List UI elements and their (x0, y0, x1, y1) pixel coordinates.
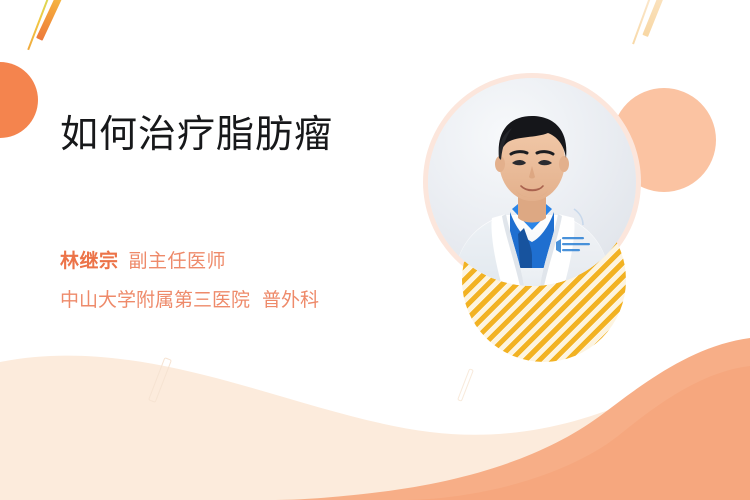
bottom-dark-wave-decoration (0, 320, 750, 500)
bottom-light-wave-decoration (0, 320, 750, 500)
doctor-name: 林继宗 (60, 251, 119, 272)
faint-diagonal-tick-decoration (457, 368, 474, 402)
doctor-department: 普外科 (262, 290, 319, 311)
page-title: 如何治疗脂肪瘤 (60, 112, 333, 160)
top-right-thick-stroke-decoration (642, 0, 669, 37)
top-left-thin-stroke-decoration (27, 0, 53, 50)
doctor-credit-line-secondary: 中山大学附属第三医院普外科 (60, 288, 319, 315)
doctor-video-cover-card: 如何治疗脂肪瘤 林继宗副主任医师 中山大学附属第三医院普外科 (0, 0, 750, 500)
doctor-hospital: 中山大学附属第三医院 (60, 290, 250, 311)
top-right-thin-stroke-decoration (632, 0, 656, 44)
top-left-thick-stroke-decoration (36, 0, 67, 41)
doctor-credit-line-primary: 林继宗副主任医师 (60, 249, 226, 276)
faint-diagonal-tick-decoration (148, 357, 172, 403)
orange-circle-decoration (0, 62, 38, 138)
doctor-portrait-photo (428, 78, 636, 286)
doctor-rank: 副主任医师 (129, 251, 227, 272)
